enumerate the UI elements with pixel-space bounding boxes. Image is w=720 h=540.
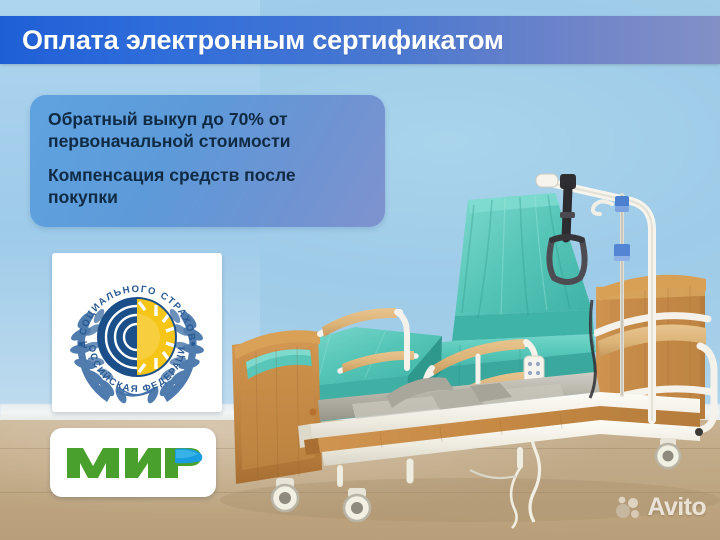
promo-banner: Оплата электронным сертификатом <box>0 16 720 64</box>
benefits-panel: Обратный выкуп до 70% от первоначальной … <box>30 95 385 227</box>
banner-title: Оплата электронным сертификатом <box>0 25 504 56</box>
mir-letter-m <box>67 448 119 478</box>
fss-dot-left <box>79 342 83 346</box>
avito-watermark: Avito <box>615 493 706 522</box>
bed-footboard <box>232 330 322 484</box>
fss-dot-right <box>191 342 195 346</box>
benefit-item-compensation: Компенсация средств после покупки <box>48 164 369 208</box>
avito-dots-icon <box>615 496 641 520</box>
benefit-item-buyback: Обратный выкуп до 70% от первоначальной … <box>48 108 369 152</box>
mir-payment-logo <box>63 440 203 486</box>
fss-logo-card: ФОНД СОЦИАЛЬНОГО СТРАХОВАНИЯ РОССИЙСКАЯ … <box>52 253 222 412</box>
mir-letter-i <box>125 448 161 478</box>
listing-image: Оплата электронным сертификатом Обратный… <box>0 0 720 540</box>
fss-logo: ФОНД СОЦИАЛЬНОГО СТРАХОВАНИЯ РОССИЙСКАЯ … <box>59 258 215 408</box>
avito-wordmark: Avito <box>647 493 706 522</box>
mir-logo-card: МИР <box>50 428 216 497</box>
fss-emblem <box>98 298 176 376</box>
